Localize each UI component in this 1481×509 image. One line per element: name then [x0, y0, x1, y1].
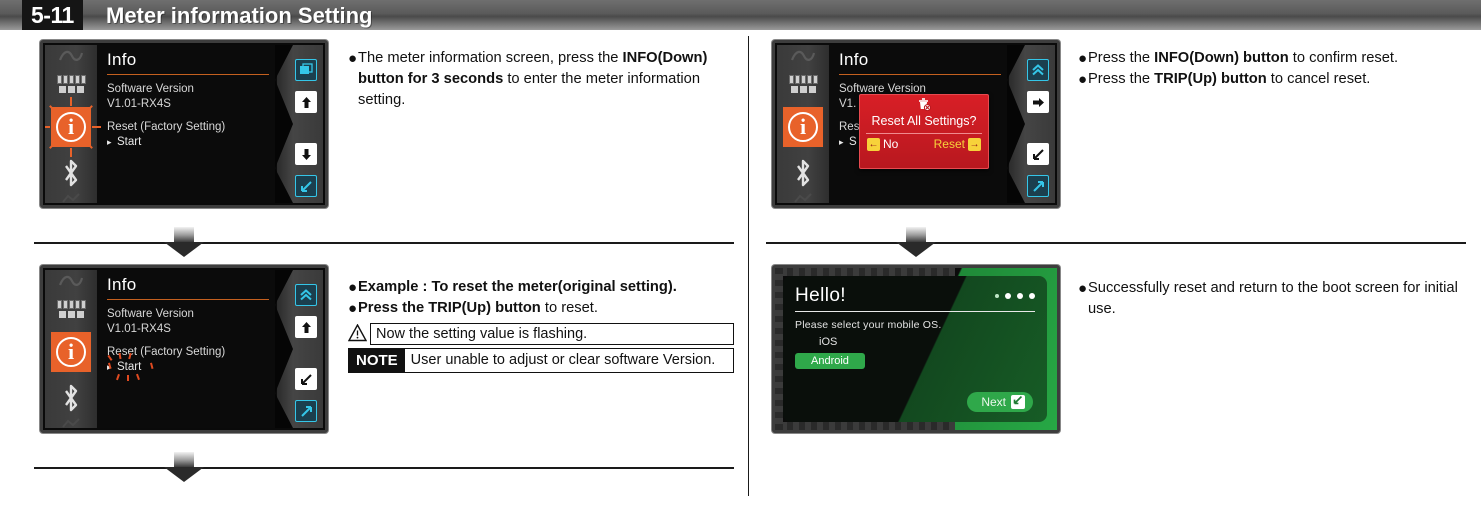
- info-icon-active[interactable]: i: [777, 103, 829, 151]
- diagonal-up-right-arrow-icon[interactable]: [295, 400, 317, 422]
- meter-screen-info-default: Info Software Version V1.01-RX4S Reset (…: [40, 40, 328, 208]
- flow-arrow-right-1: [766, 227, 1466, 257]
- left-icon-rail: i: [777, 45, 829, 203]
- step4-text: Successfully reset and return to the boo…: [1088, 280, 1458, 317]
- meter-screen-boot-hello: Hello! Please select your mobile OS. iOS…: [772, 265, 1060, 433]
- reset-label: Reset (Factory Setting): [107, 120, 269, 135]
- frame-strip-left: [775, 268, 783, 430]
- meter-screen-info-flashing: Info Software Version V1.01-RX4S Reset (…: [40, 265, 328, 433]
- odometer-icon: [777, 71, 829, 101]
- down-arrow-icon: [164, 452, 204, 482]
- software-version-value: V1.01-RX4S: [107, 322, 269, 337]
- odometer-icon: [45, 296, 97, 326]
- caret-icon: ▸: [107, 135, 112, 150]
- right-arrow-icon: →: [968, 138, 981, 151]
- bullet-icon: ●: [348, 277, 358, 298]
- os-option-ios[interactable]: iOS: [819, 336, 1035, 348]
- instruction-step-4: ● Successfully reset and return to the b…: [1078, 278, 1468, 320]
- back-diagonal-arrow-icon[interactable]: [295, 175, 317, 197]
- screen-mode-icon[interactable]: [295, 59, 317, 81]
- double-chevron-up-icon[interactable]: [295, 284, 317, 306]
- screen-title: Info: [107, 275, 269, 295]
- section-number: 5-11: [22, 0, 83, 30]
- page-title: Meter information Setting: [106, 0, 372, 30]
- step2-line2-head: Press the: [1088, 71, 1154, 87]
- trash-delete-icon: [860, 95, 988, 113]
- left-icon-rail: i: [45, 45, 97, 203]
- down-arrow-icon: [896, 227, 936, 257]
- title-rule: [107, 74, 269, 75]
- bullet-icon: ●: [1078, 48, 1088, 69]
- menu-item-start[interactable]: ▸ Start: [107, 360, 269, 375]
- menu-item-start-label: Start: [117, 361, 141, 373]
- warning-callout: Now the setting value is flashing.: [348, 323, 734, 345]
- up-arrow-icon[interactable]: [295, 316, 317, 338]
- screen-title: Info: [107, 50, 269, 70]
- diagonal-up-right-arrow-icon[interactable]: [1027, 175, 1049, 197]
- flow-arrow-left-1: [34, 227, 734, 257]
- step3-example: Example : To reset the meter(original se…: [358, 279, 677, 295]
- rider-icon: [777, 191, 829, 203]
- title-rule: [839, 74, 1001, 75]
- warning-triangle-icon: [348, 324, 367, 342]
- wave-icon: [45, 272, 97, 294]
- wave-icon: [45, 47, 97, 69]
- step2-line2-tail: to cancel reset.: [1267, 71, 1371, 87]
- dialog-question: Reset All Settings?: [860, 113, 988, 129]
- left-arrow-icon: ←: [867, 138, 880, 151]
- dialog-cancel-label: No: [883, 137, 898, 151]
- page-header-bar: 5-11 Meter information Setting: [0, 0, 1481, 30]
- title-rule: [107, 299, 269, 300]
- step3-press-bold: Press the TRIP(Up) button: [358, 300, 541, 316]
- dialog-confirm-label: Reset: [934, 137, 965, 151]
- dialog-confirm-button[interactable]: Reset →: [934, 137, 981, 151]
- right-button-rail: [277, 45, 323, 203]
- frame-strip-bottom: [775, 422, 955, 430]
- software-version-label: Software Version: [107, 307, 269, 322]
- boot-rule: [795, 311, 1035, 312]
- flow-arrow-left-2: [34, 452, 734, 482]
- menu-item-start-label: Start: [117, 136, 141, 148]
- software-version-label: Software Version: [107, 82, 269, 97]
- page-dots: [995, 293, 1035, 299]
- next-label: Next: [981, 395, 1006, 409]
- screen-title: Info: [839, 50, 1001, 70]
- bluetooth-icon: [777, 155, 829, 189]
- down-arrow-icon: [164, 227, 204, 257]
- reset-confirm-dialog[interactable]: Reset All Settings? ← No Reset →: [859, 94, 989, 169]
- step2-bold-a: INFO(Down) button: [1154, 50, 1289, 66]
- diagonal-down-left-arrow-icon: [1011, 395, 1025, 409]
- bluetooth-icon: [45, 155, 97, 189]
- step2-bold-b: TRIP(Up) button: [1154, 71, 1267, 87]
- bluetooth-icon: [45, 380, 97, 414]
- right-button-rail: [1009, 45, 1055, 203]
- software-version-value: V1.01-RX4S: [107, 97, 269, 112]
- warning-text: Now the setting value is flashing.: [370, 323, 734, 345]
- instruction-step-1: ● The meter information screen, press th…: [348, 48, 738, 111]
- diagonal-down-left-arrow-icon[interactable]: [295, 368, 317, 390]
- boot-card: Hello! Please select your mobile OS. iOS…: [783, 276, 1047, 422]
- screen-content: Info Software Version V1.01-RX4S Reset (…: [97, 45, 277, 203]
- instruction-step-2: ● Press the INFO(Down) button to confirm…: [1078, 48, 1468, 90]
- menu-item-start[interactable]: ▸ Start: [107, 135, 269, 150]
- os-option-android[interactable]: Android: [795, 353, 865, 369]
- right-button-rail: [277, 270, 323, 428]
- column-divider: [748, 36, 749, 496]
- frame-strip-top: [775, 268, 955, 276]
- step2-line1-tail: to confirm reset.: [1289, 50, 1398, 66]
- caret-icon: ▸: [839, 135, 844, 150]
- up-arrow-icon[interactable]: [295, 91, 317, 113]
- dialog-cancel-button[interactable]: ← No: [867, 137, 898, 151]
- right-arrow-icon[interactable]: [1027, 91, 1049, 113]
- rider-icon: [45, 191, 97, 203]
- bullet-icon: ●: [1078, 69, 1088, 90]
- info-icon-active[interactable]: i: [45, 328, 97, 376]
- down-arrow-icon[interactable]: [295, 143, 317, 165]
- bullet-icon: ●: [348, 48, 358, 69]
- step1-part1: The meter information screen, press the: [358, 50, 623, 66]
- rider-icon: [45, 416, 97, 428]
- instruction-step-3: ● Example : To reset the meter(original …: [348, 277, 740, 373]
- double-chevron-up-icon[interactable]: [1027, 59, 1049, 81]
- info-icon-active[interactable]: i: [45, 103, 97, 151]
- step2-line1-head: Press the: [1088, 50, 1154, 66]
- bullet-icon: ●: [348, 298, 358, 319]
- note-tag: NOTE: [349, 349, 405, 372]
- wave-icon: [777, 47, 829, 69]
- flashing-value: Start: [117, 360, 141, 375]
- note-text: User unable to adjust or clear software …: [405, 349, 722, 372]
- left-icon-rail: i: [45, 270, 97, 428]
- boot-title: Hello!: [795, 285, 846, 307]
- menu-item-start-label: S: [849, 136, 857, 148]
- screen-content: Info Software Version V1.01-RX4S Reset (…: [97, 270, 277, 428]
- boot-subtitle: Please select your mobile OS.: [795, 319, 1035, 331]
- diagonal-down-left-arrow-icon[interactable]: [1027, 143, 1049, 165]
- step3-press-tail: to reset.: [541, 300, 598, 316]
- next-button[interactable]: Next: [967, 392, 1033, 412]
- note-callout: NOTE User unable to adjust or clear soft…: [348, 348, 734, 373]
- meter-screen-reset-dialog: Info Software Version V1. Res ▸ S: [772, 40, 1060, 208]
- bullet-icon: ●: [1078, 278, 1088, 299]
